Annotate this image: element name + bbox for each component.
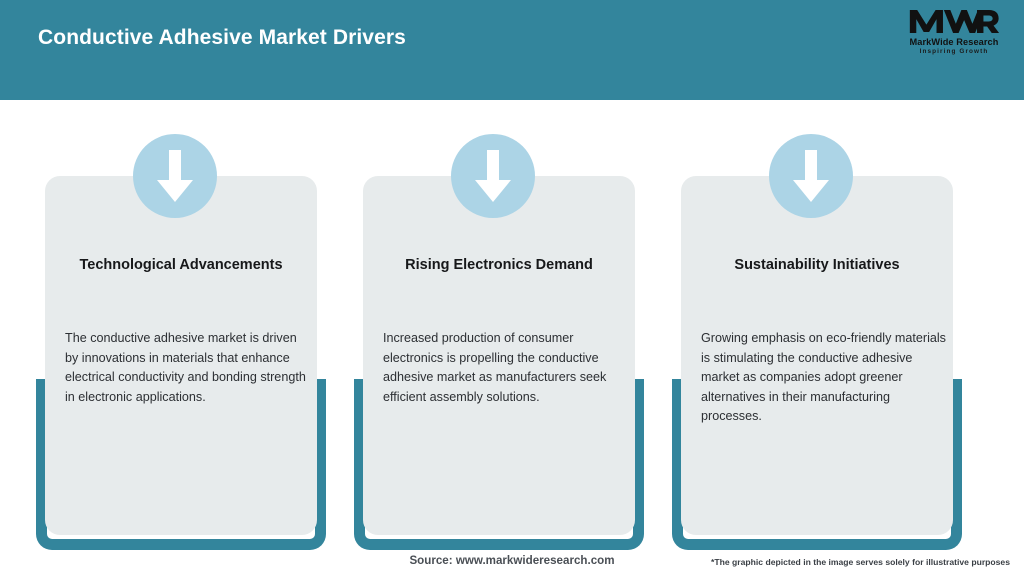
driver-card-title: Sustainability Initiatives [681,255,953,275]
driver-card[interactable]: Rising Electronics Demand Increased prod… [363,176,635,535]
logo-company-name: MarkWide Research [898,37,1010,47]
driver-column-2: Rising Electronics Demand Increased prod… [354,100,652,576]
driver-column-3: Sustainability Initiatives Growing empha… [672,100,970,576]
down-arrow-icon [156,150,194,203]
driver-card-title: Technological Advancements [45,255,317,275]
driver-card-body: Increased production of consumer electro… [383,329,629,407]
driver-column-1: Technological Advancements The conductiv… [36,100,334,576]
down-arrow-badge [133,134,217,218]
driver-card-body: The conductive adhesive market is driven… [65,329,311,407]
markwide-research-logo: MarkWide Research Inspiring Growth [898,6,1010,64]
logo-tagline: Inspiring Growth [898,48,1010,55]
header-bar: Conductive Adhesive Market Drivers MarkW… [0,0,1024,100]
mwr-logo-mark [908,6,1000,36]
down-arrow-icon [792,150,830,203]
drivers-card-row: Technological Advancements The conductiv… [0,100,1024,576]
page-title: Conductive Adhesive Market Drivers [38,24,406,52]
down-arrow-badge [769,134,853,218]
down-arrow-icon [474,150,512,203]
driver-card-title: Rising Electronics Demand [363,255,635,275]
driver-card-body: Growing emphasis on eco-friendly materia… [701,329,947,427]
disclaimer-note: *The graphic depicted in the image serve… [711,557,1010,567]
driver-card[interactable]: Technological Advancements The conductiv… [45,176,317,535]
down-arrow-badge [451,134,535,218]
driver-card[interactable]: Sustainability Initiatives Growing empha… [681,176,953,535]
